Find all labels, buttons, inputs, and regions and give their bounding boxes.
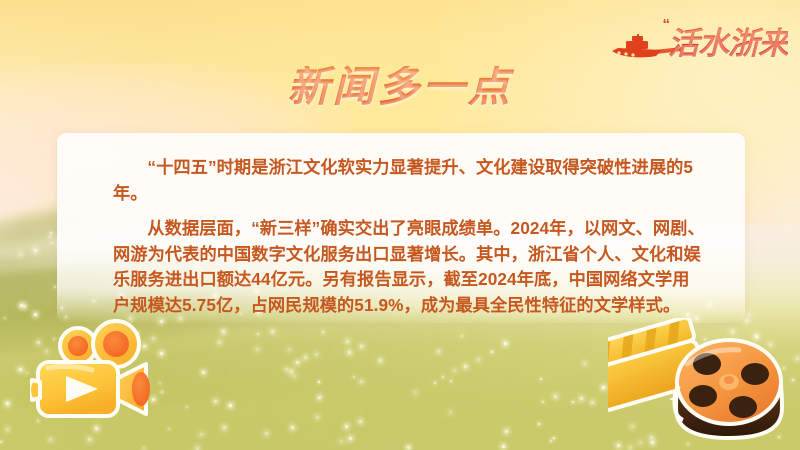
page-title: 新闻多一点 — [0, 66, 800, 108]
logo-text: 活水浙来 — [668, 18, 788, 63]
article-card: “十四五”时期是浙江文化软实力显著提升、文化建设取得突破性进展的5年。 从数据层… — [57, 133, 745, 323]
article-paragraph-2: 从数据层面，“新三样”确实交出了亮眼成绩单。2024年，以网文、网剧、网游为代表… — [113, 216, 705, 318]
film-reel-icon — [663, 330, 797, 450]
news-graphic-canvas: “ 活水浙来 新闻多一点 “十四五”时期是浙江文化软实力显著提升、文化建设取得突… — [0, 0, 800, 450]
program-logo: “ 活水浙来 — [608, 16, 788, 64]
movie-camera-icon — [30, 318, 190, 430]
article-body: “十四五”时期是浙江文化软实力显著提升、文化建设取得突破性进展的5年。 从数据层… — [113, 155, 705, 318]
article-paragraph-1: “十四五”时期是浙江文化软实力显著提升、文化建设取得突破性进展的5年。 — [113, 155, 705, 206]
